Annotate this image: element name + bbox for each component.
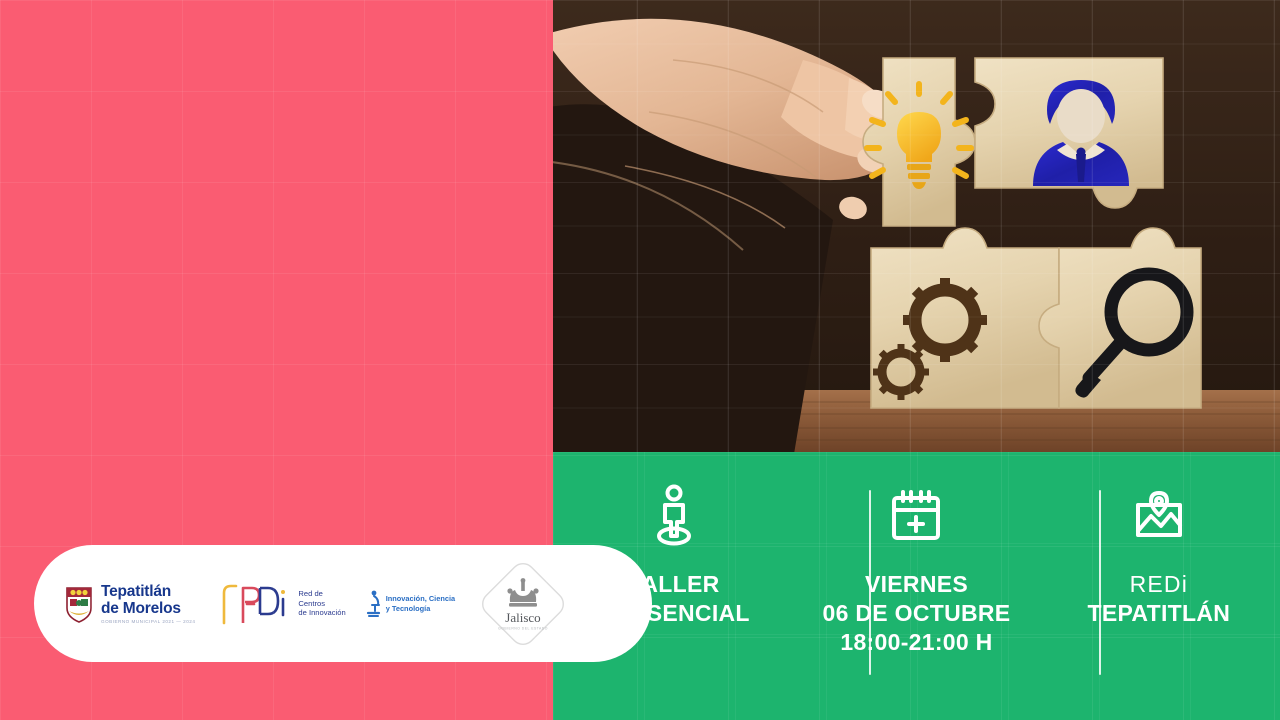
microscope-icon (366, 589, 381, 619)
logo-redi: Red de Centros de Innovación (195, 579, 345, 629)
hero-photo (553, 0, 1280, 452)
info-line-1: REDi (1087, 570, 1230, 599)
info-divider-1 (869, 490, 871, 675)
info-line-1: VIERNES (823, 570, 1011, 599)
flyer-canvas: Idea de negocio desde cero IMPART (0, 0, 1280, 720)
person-standing-icon (645, 484, 703, 548)
info-panel: TALLER PRESENCIAL VIERNES 06 DE OCTUBRE … (553, 452, 1280, 720)
info-line-3: 18:00-21:00 H (823, 628, 1011, 657)
tepatitlan-subtitle: GOBIERNO MUNICIPAL 2021 — 2024 (101, 619, 195, 624)
jalisco-subtitle: GOBIERNO DEL ESTADO (498, 626, 548, 630)
redi-logo-icon (217, 579, 291, 629)
info-divider-2 (1099, 490, 1101, 675)
tepatitlan-text: Tepatitlán de Morelos GOBIERNO MUNICIPAL… (101, 583, 195, 624)
map-pin-icon (1130, 484, 1188, 548)
info-text-date: VIERNES 06 DE OCTUBRE 18:00-21:00 H (823, 570, 1011, 657)
sponsor-logo-bar: Tepatitlán de Morelos GOBIERNO MUNICIPAL… (34, 545, 652, 662)
coat-of-arms-icon (64, 584, 94, 624)
tepatitlan-line-2: de Morelos (101, 600, 195, 617)
redi-text-line-2: Centros (298, 599, 345, 609)
redi-text-line-3: de Innovación (298, 608, 345, 618)
info-line-2: TEPATITLÁN (1087, 599, 1230, 628)
info-column-date: VIERNES 06 DE OCTUBRE 18:00-21:00 H (795, 452, 1037, 720)
logo-tepatitlan: Tepatitlán de Morelos GOBIERNO MUNICIPAL… (64, 583, 195, 624)
ict-text-line-1: Innovación, Ciencia (386, 594, 455, 603)
ict-text-line-2: y Tecnología (386, 604, 455, 613)
info-line-2: 06 DE OCTUBRE (823, 599, 1011, 628)
calendar-plus-icon (888, 484, 944, 548)
logo-jalisco: Jalisco GOBIERNO DEL ESTADO (477, 558, 569, 650)
jalisco-wordmark: Jalisco (505, 610, 540, 625)
logo-ict: Innovación, Ciencia y Tecnología (346, 589, 455, 619)
info-text-location: REDi TEPATITLÁN (1087, 570, 1230, 628)
redi-text-line-1: Red de (298, 589, 345, 599)
info-column-location: REDi TEPATITLÁN (1038, 452, 1280, 720)
redi-text: Red de Centros de Innovación (298, 589, 345, 618)
ict-text: Innovación, Ciencia y Tecnología (386, 594, 455, 612)
tepatitlan-line-1: Tepatitlán (101, 583, 195, 600)
